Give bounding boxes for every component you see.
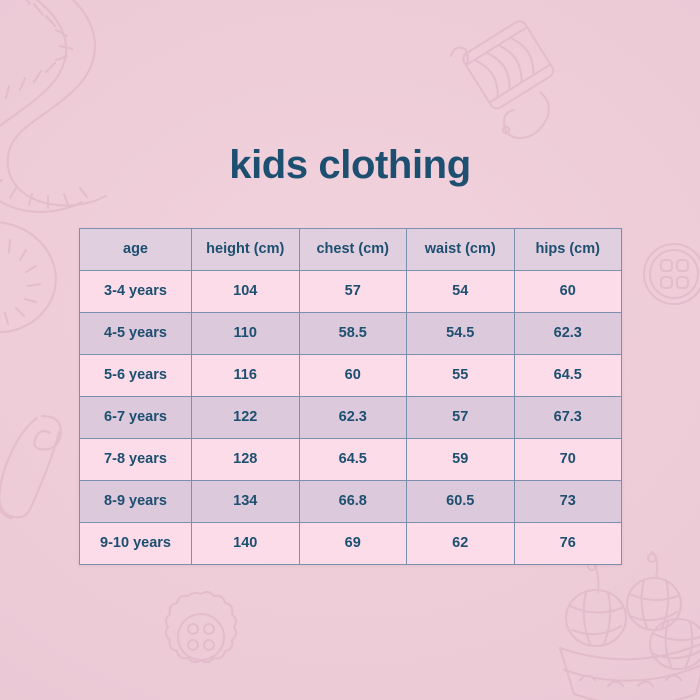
table-row: 7-8 years 128 64.5 59 70	[80, 439, 622, 481]
cell-age: 3-4 years	[80, 271, 192, 313]
cell-height: 122	[192, 397, 300, 439]
size-chart-table: age height (cm) chest (cm) waist (cm) hi…	[79, 228, 622, 565]
cell-age: 6-7 years	[80, 397, 192, 439]
table-row: 6-7 years 122 62.3 57 67.3	[80, 397, 622, 439]
table-row: 9-10 years 140 69 62 76	[80, 523, 622, 565]
cell-chest: 60	[299, 355, 407, 397]
cell-hips: 76	[514, 523, 622, 565]
cell-waist: 57	[407, 397, 515, 439]
cell-hips: 70	[514, 439, 622, 481]
cell-height: 140	[192, 523, 300, 565]
column-header-waist: waist (cm)	[407, 229, 515, 271]
scalloped-button-icon	[152, 588, 250, 686]
column-header-age: age	[80, 229, 192, 271]
cell-chest: 58.5	[299, 313, 407, 355]
cell-height: 116	[192, 355, 300, 397]
cell-hips: 67.3	[514, 397, 622, 439]
cell-hips: 73	[514, 481, 622, 523]
cell-waist: 54	[407, 271, 515, 313]
cell-height: 128	[192, 439, 300, 481]
size-chart-poster: kids clothing age height (cm) chest (cm)…	[0, 0, 700, 700]
button-icon	[638, 238, 700, 310]
cell-waist: 54.5	[407, 313, 515, 355]
table-row: 8-9 years 134 66.8 60.5 73	[80, 481, 622, 523]
cell-height: 134	[192, 481, 300, 523]
cell-waist: 62	[407, 523, 515, 565]
table-body: 3-4 years 104 57 54 60 4-5 years 110 58.…	[80, 271, 622, 565]
cell-chest: 64.5	[299, 439, 407, 481]
cell-chest: 57	[299, 271, 407, 313]
cell-age: 7-8 years	[80, 439, 192, 481]
cell-chest: 62.3	[299, 397, 407, 439]
table-header-row: age height (cm) chest (cm) waist (cm) hi…	[80, 229, 622, 271]
cell-chest: 66.8	[299, 481, 407, 523]
cell-waist: 60.5	[407, 481, 515, 523]
measuring-tape-icon	[0, 0, 190, 230]
cell-hips: 64.5	[514, 355, 622, 397]
column-header-chest: chest (cm)	[299, 229, 407, 271]
safety-pin-icon	[0, 404, 86, 534]
table-row: 3-4 years 104 57 54 60	[80, 271, 622, 313]
cell-height: 104	[192, 271, 300, 313]
thread-spool-icon	[462, 8, 592, 148]
table-row: 4-5 years 110 58.5 54.5 62.3	[80, 313, 622, 355]
cell-waist: 59	[407, 439, 515, 481]
table-header: age height (cm) chest (cm) waist (cm) hi…	[80, 229, 622, 271]
cell-age: 5-6 years	[80, 355, 192, 397]
cell-waist: 55	[407, 355, 515, 397]
yarn-basket-icon	[556, 552, 700, 700]
size-chart-table-wrapper: age height (cm) chest (cm) waist (cm) hi…	[79, 228, 621, 565]
cell-age: 4-5 years	[80, 313, 192, 355]
cell-chest: 69	[299, 523, 407, 565]
cell-hips: 62.3	[514, 313, 622, 355]
page-title: kids clothing	[0, 143, 700, 188]
column-header-hips: hips (cm)	[514, 229, 622, 271]
cell-hips: 60	[514, 271, 622, 313]
cell-age: 9-10 years	[80, 523, 192, 565]
cell-age: 8-9 years	[80, 481, 192, 523]
column-header-height: height (cm)	[192, 229, 300, 271]
cell-height: 110	[192, 313, 300, 355]
table-row: 5-6 years 116 60 55 64.5	[80, 355, 622, 397]
